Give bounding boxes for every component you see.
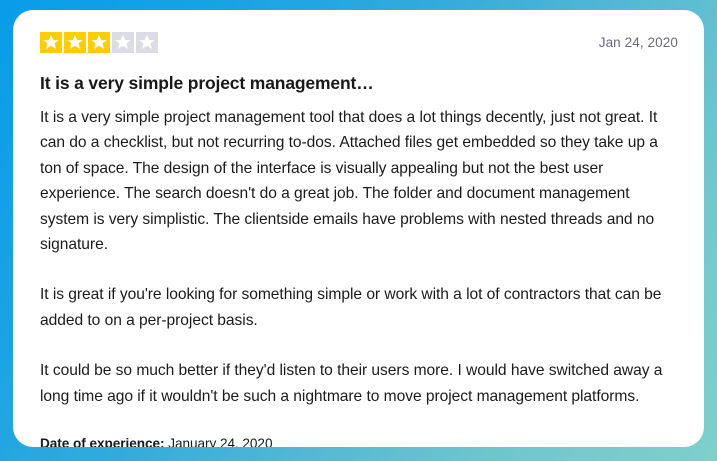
star-icon [136, 32, 158, 53]
star-rating-icon[interactable] [40, 32, 158, 53]
review-header: Jan 24, 2020 [40, 32, 678, 56]
date-of-experience-label: Date of experience: [40, 436, 164, 447]
review-paragraph: It is a very simple project management t… [40, 105, 678, 257]
date-of-experience-value: January 24, 2020 [168, 436, 272, 447]
review-date: Jan 24, 2020 [599, 32, 678, 53]
star-icon [112, 32, 134, 53]
review-card: Jan 24, 2020 It is a very simple project… [13, 10, 704, 447]
review-paragraph: It is great if you're looking for someth… [40, 282, 678, 333]
star-icon [40, 32, 62, 53]
review-body: It is a very simple project management t… [40, 105, 678, 409]
date-of-experience: Date of experience: January 24, 2020 [40, 436, 678, 447]
review-title: It is a very simple project management… [40, 72, 678, 94]
star-icon [64, 32, 86, 53]
review-paragraph: It could be so much better if they'd lis… [40, 358, 678, 409]
star-icon [88, 32, 110, 53]
